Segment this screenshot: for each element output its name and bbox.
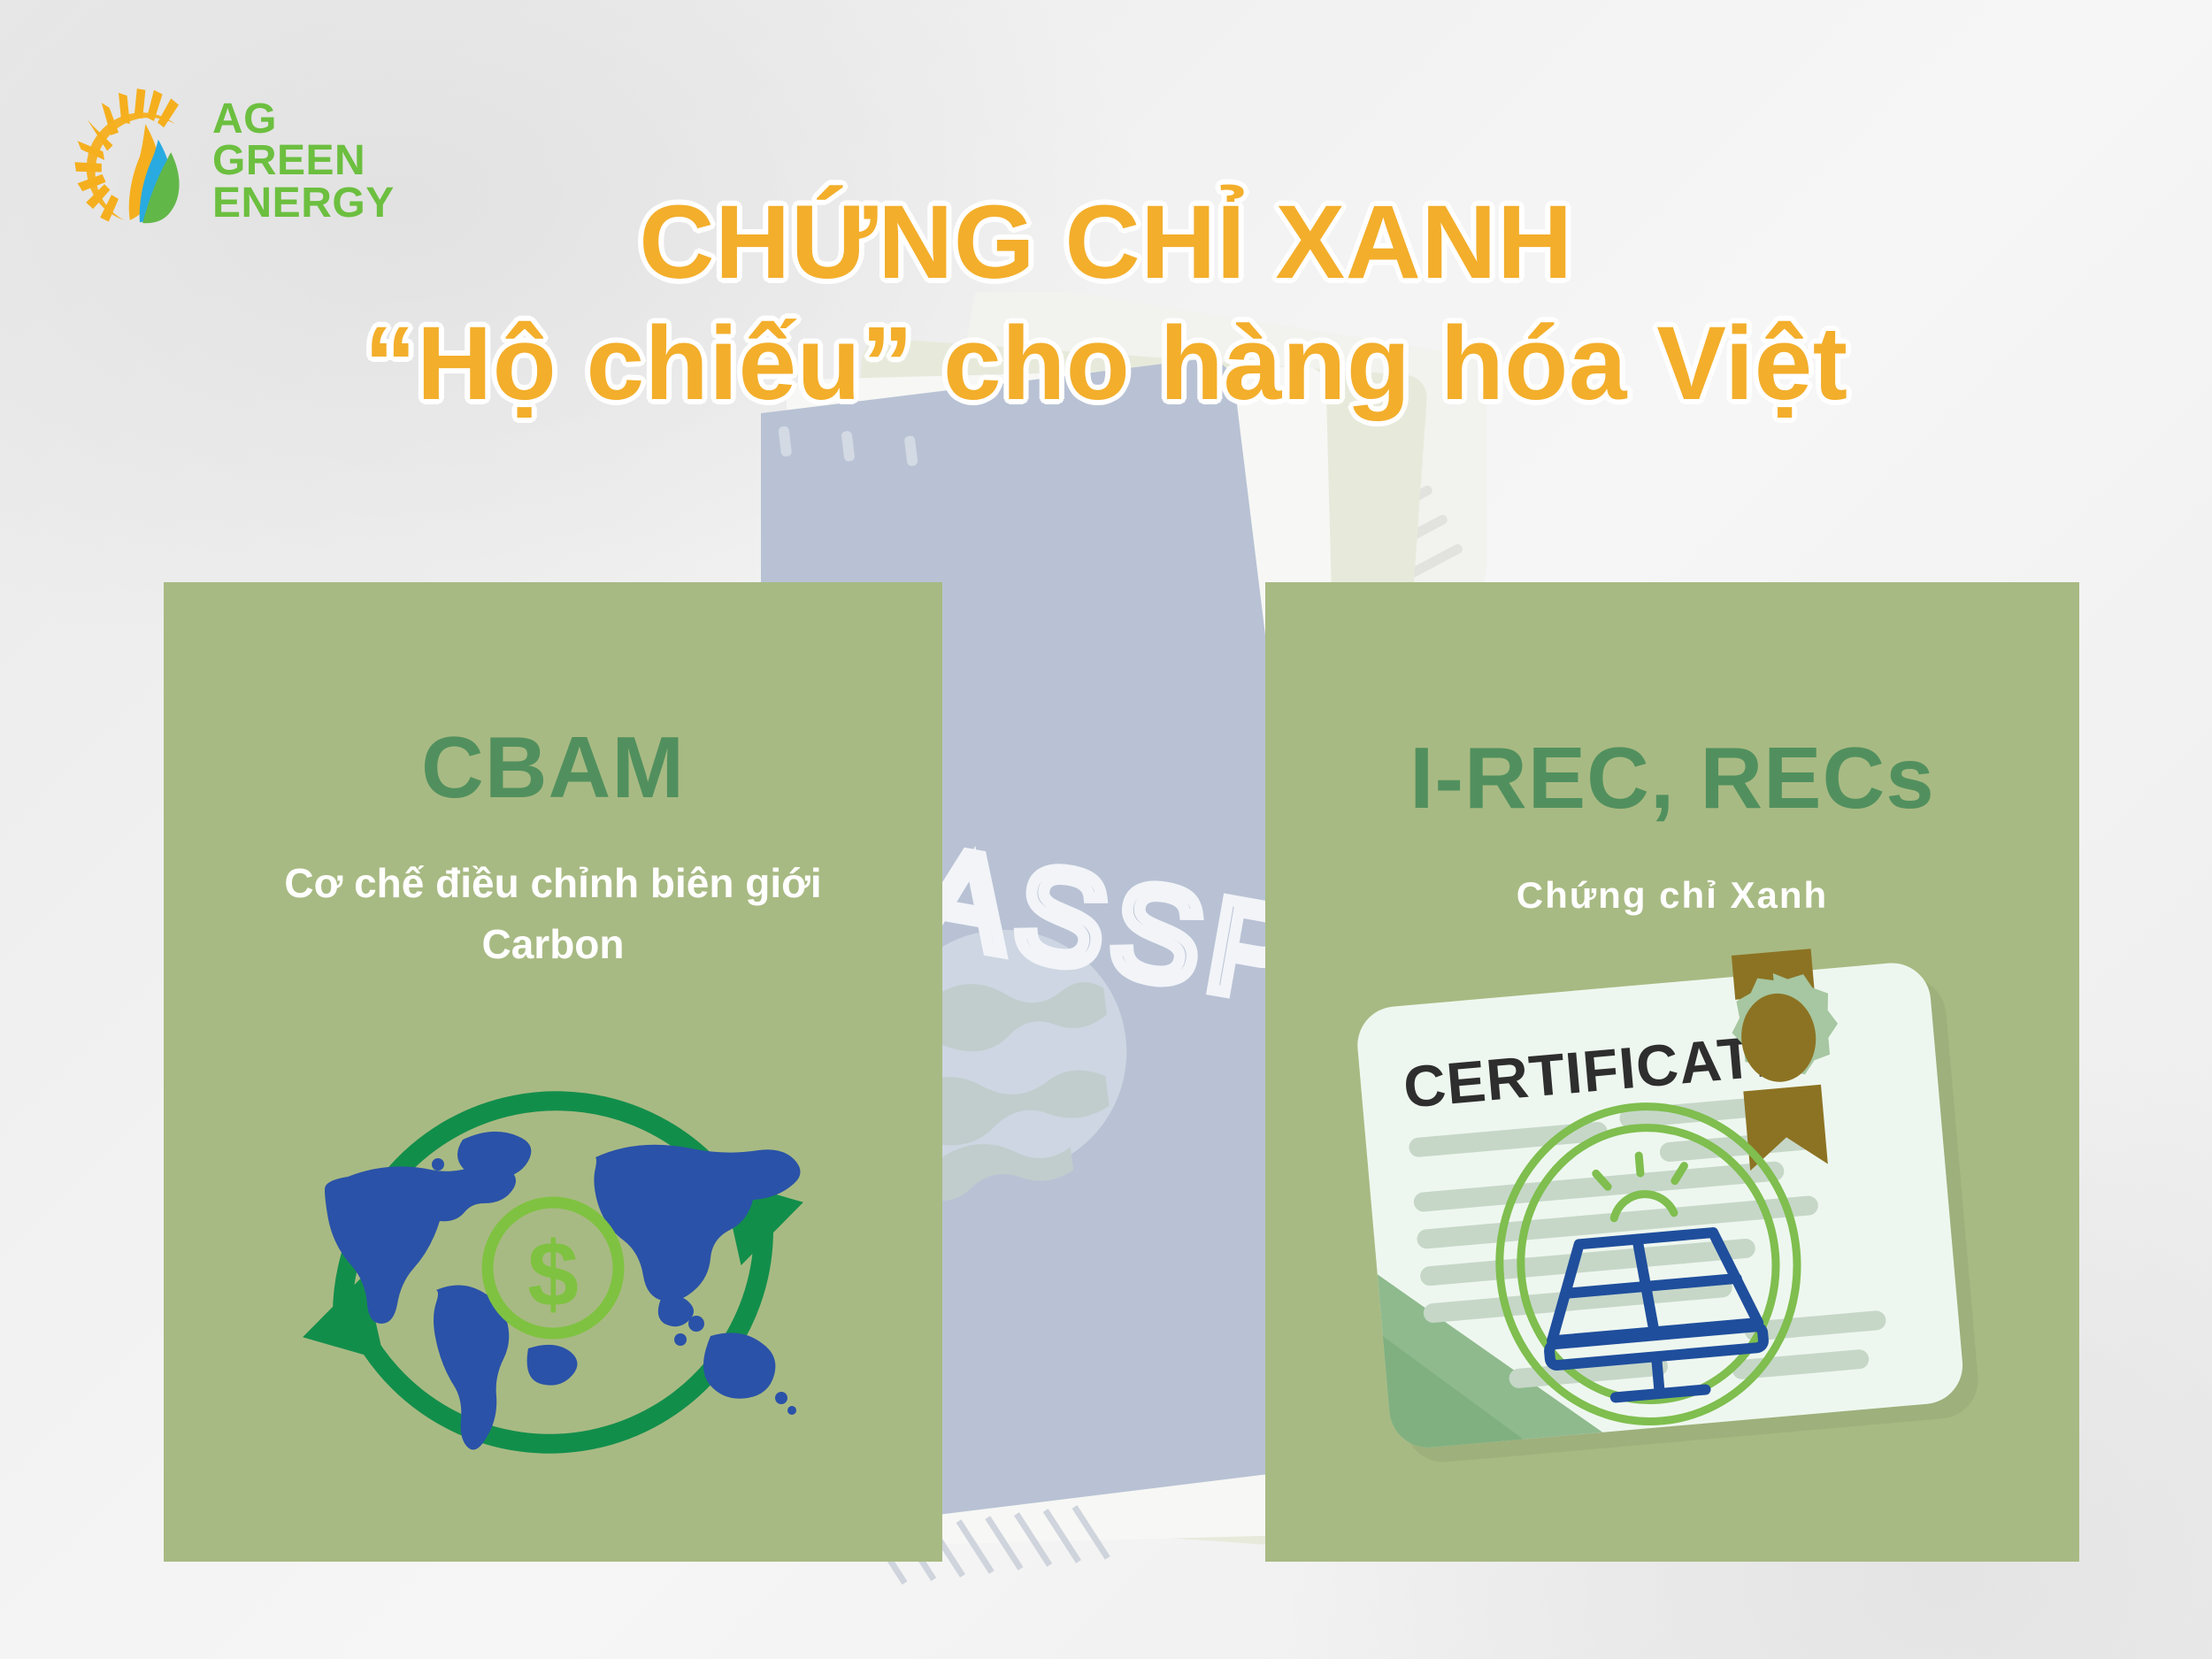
card-irec[interactable]: I-REC, RECs Chứng chỉ Xanh CERTIFICATE [1265, 582, 2079, 1562]
brand-line-1: AG [212, 98, 395, 140]
global-carbon-cycle-icon: $ [261, 1007, 845, 1538]
dollar-symbol: $ [527, 1224, 579, 1326]
brand-logo[interactable]: AG GREEN ENERGY [69, 73, 388, 250]
card-irec-art: CERTIFICATE [1265, 930, 2079, 1496]
green-certificate-icon: CERTIFICATE [1318, 930, 2026, 1496]
card-cbam-title: CBAM [164, 724, 942, 810]
card-irec-subtitle: Chứng chỉ Xanh [1265, 867, 2079, 923]
card-cbam[interactable]: CBAM Cơ chế điều chỉnh biên giới Carbon [164, 582, 942, 1562]
brand-wordmark: AG GREEN ENERGY [212, 98, 395, 223]
sun-flame-leaf-logo-icon [69, 84, 211, 239]
card-cbam-subtitle: Cơ chế điều chỉnh biên giới Carbon [164, 853, 942, 975]
brand-line-3: ENERGY [212, 182, 395, 224]
card-irec-title: I-REC, RECs [1265, 734, 2079, 821]
brand-line-2: GREEN [212, 140, 395, 181]
card-cbam-art: $ [164, 1007, 942, 1538]
